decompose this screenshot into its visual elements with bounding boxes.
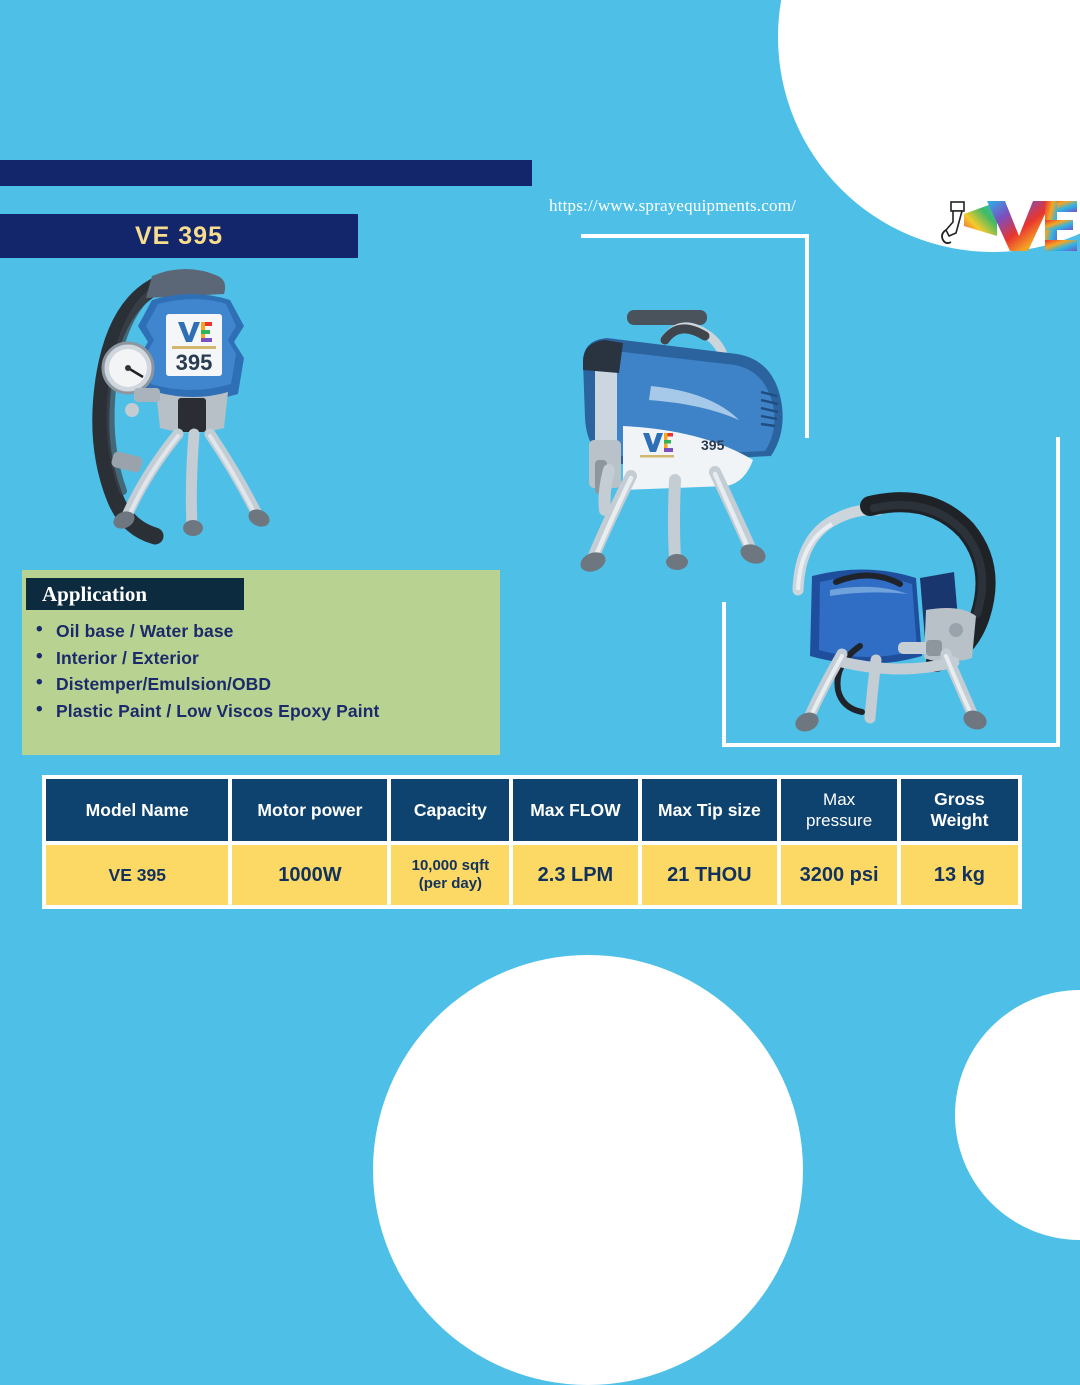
column-header-model-name: Model Name	[46, 779, 228, 841]
sprayer-rear-hose-view	[750, 470, 1040, 740]
cell-max-flow: 2.3 LPM	[513, 845, 637, 905]
website-url[interactable]: https://www.sprayequipments.com/	[549, 196, 796, 216]
cell-capacity: 10,000 sqft(per day)	[391, 845, 509, 905]
list-item: Oil base / Water base	[34, 618, 494, 645]
page-title: VE 395	[135, 222, 223, 251]
table-row: VE 395 1000W 10,000 sqft(per day) 2.3 LP…	[46, 845, 1018, 905]
cell-motor-power: 1000W	[232, 845, 387, 905]
cell-gross-weight: 13 kg	[901, 845, 1018, 905]
list-item: Plastic Paint / Low Viscos Epoxy Paint	[34, 698, 494, 725]
decorative-circle-bottom-right	[955, 990, 1080, 1240]
decorative-circle-bottom-center	[373, 955, 803, 1385]
column-header-max-pressure: Maxpressure	[781, 779, 897, 841]
application-header: Application	[26, 578, 244, 610]
spray-gun-icon	[942, 202, 964, 243]
application-heading: Application	[42, 582, 147, 607]
column-header-max-tip-size: Max Tip size	[642, 779, 778, 841]
column-header-max-flow: Max FLOW	[513, 779, 637, 841]
header-accent-bar	[0, 160, 532, 186]
product-title-bar: VE 395	[0, 214, 358, 258]
cell-max-tip-size: 21 THOU	[642, 845, 778, 905]
svg-text:395: 395	[176, 350, 213, 375]
specification-table: Model Name Motor power Capacity Max FLOW…	[42, 775, 1022, 909]
sprayer-front-view: 395	[60, 258, 320, 568]
ve-logo	[933, 196, 1079, 252]
column-header-gross-weight: GrossWeight	[901, 779, 1018, 841]
list-item: Interior / Exterior	[34, 645, 494, 672]
list-item: Distemper/Emulsion/OBD	[34, 671, 494, 698]
column-header-motor-power: Motor power	[232, 779, 387, 841]
cell-model-name: VE 395	[46, 845, 228, 905]
table-header-row: Model Name Motor power Capacity Max FLOW…	[46, 779, 1018, 841]
column-header-capacity: Capacity	[391, 779, 509, 841]
svg-text:395: 395	[701, 437, 725, 453]
cell-max-pressure: 3200 psi	[781, 845, 897, 905]
application-list: Oil base / Water base Interior / Exterio…	[34, 618, 494, 724]
